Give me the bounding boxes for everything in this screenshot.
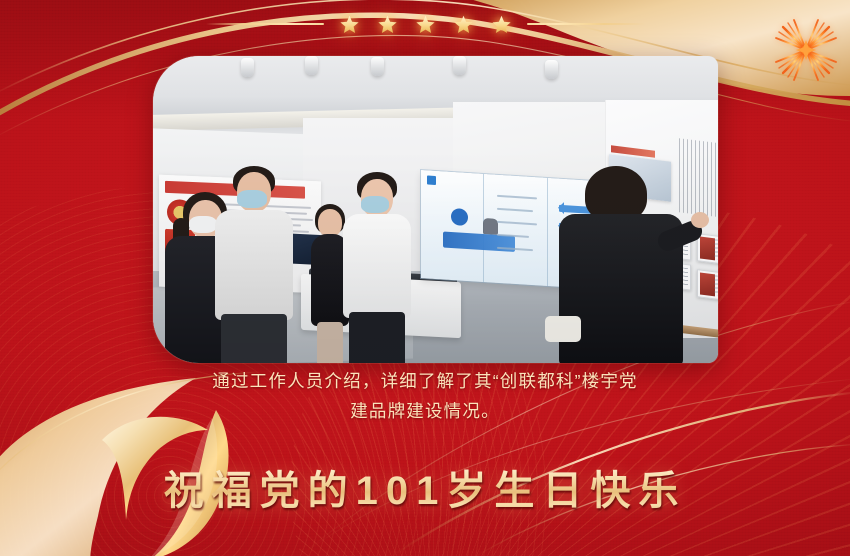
stars-divider (0, 9, 850, 39)
star-icon (492, 15, 511, 34)
page-title: 祝福党的101岁生日快乐 (0, 462, 850, 520)
star-icon (416, 15, 435, 34)
ceiling-spotlight-icon (545, 60, 558, 79)
photograph-scene (153, 56, 718, 363)
firework-burst-icon (770, 14, 842, 86)
person-figure (343, 172, 413, 363)
poster-canvas: 通过工作人员介绍，详细了解了其“创联都科”楼宇党 建品牌建设情况。 祝福党的10… (0, 0, 850, 556)
star-group (340, 15, 511, 34)
screen-logo-icon (427, 175, 436, 185)
screen-person-icon (483, 218, 498, 235)
star-icon (454, 15, 473, 34)
profile-card (697, 269, 718, 303)
person-figure (215, 166, 295, 363)
screen-info-icon (451, 208, 468, 226)
event-photograph (153, 56, 718, 363)
ceiling-spotlight-icon (305, 56, 318, 75)
photo-caption: 通过工作人员介绍，详细了解了其“创联都科”楼宇党 建品牌建设情况。 (0, 366, 850, 426)
caption-line-2: 建品牌建设情况。 (0, 396, 850, 426)
person-figure-foreground (545, 166, 695, 363)
star-icon (340, 15, 359, 34)
ceiling-spotlight-icon (241, 58, 254, 77)
profile-card (697, 233, 718, 267)
gold-rule-left (206, 23, 324, 25)
star-icon (378, 15, 397, 34)
caption-line-1: 通过工作人员介绍，详细了解了其“创联都科”楼宇党 (0, 366, 850, 396)
ceiling-spotlight-icon (371, 57, 384, 76)
gold-rule-right (527, 23, 645, 25)
ceiling-spotlight-icon (453, 56, 466, 75)
